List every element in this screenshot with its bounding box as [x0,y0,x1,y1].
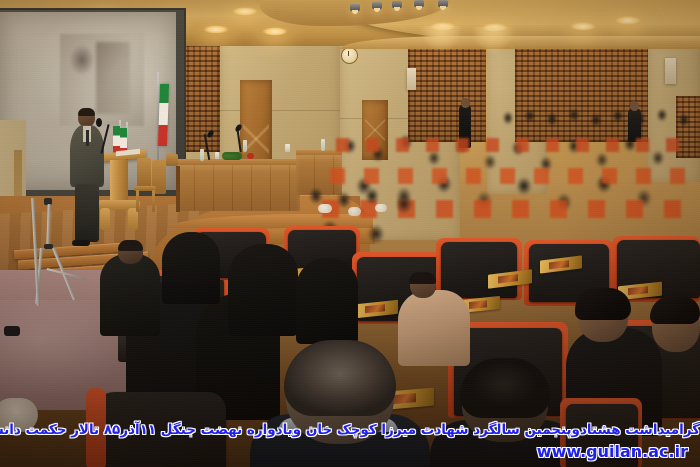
attendee-hair [409,272,436,284]
standing-attendee-right-head [630,101,639,111]
turban-white [318,204,332,213]
podium-mic-head [96,118,102,127]
track-spotlight [414,0,424,7]
water-bottle [321,139,325,151]
wall-seam [220,110,340,111]
attendee-hair [118,240,143,251]
attendee-chador [162,232,220,304]
photo-canvas: گرامیداشت هشتادوپنجمین سالگرد شهادت میرز… [0,0,700,467]
folder-artwork [628,286,648,295]
ceiling-soffit-edge [340,36,700,49]
turban-foreground [0,398,38,432]
wall-clock [341,47,358,64]
panel-chair-leg [136,190,139,212]
track-spotlight [372,2,382,9]
head-table-front [176,165,300,211]
track-spotlight [438,0,448,7]
turban-white [375,204,387,212]
water-bottle [243,140,247,152]
folder-artwork [498,274,518,284]
panel-chair [137,158,151,188]
ceiling-downlight [615,16,641,25]
attendee-suit-dark [100,254,160,336]
theater-seat-foreground-left [96,392,226,467]
panel-chair-leg [152,190,155,212]
flower-arrangement [222,152,242,160]
paper-cup [215,152,219,159]
attendee-hair-edge [650,296,700,324]
track-spotlight [392,1,402,8]
panel-chair-far [166,154,178,166]
projected-image-highlight [96,42,130,114]
speaker-hair [78,108,95,116]
speaker-tie [86,130,89,146]
speaker-legs [75,184,99,242]
podium-foot [100,208,110,230]
foreground-attendee-hair [284,340,396,416]
standing-attendee-head [461,98,470,108]
folder-artwork [549,260,568,269]
ceiling-downlight [203,25,229,34]
podium-column [110,160,128,204]
speaker-shoe [72,240,90,246]
head-table-side [176,166,180,212]
attendee-chador [228,244,298,336]
downlight-glow [472,27,514,53]
ceiling-downlight [262,27,288,36]
foreground-attendee-2-hair [460,358,550,418]
turban-white [348,207,361,216]
water-bottle [200,149,204,161]
attendee-tan-sweater [398,290,470,366]
track-spotlight [350,4,360,11]
folder-artwork [365,304,384,313]
seat-row-mid [336,138,696,152]
theater-seat-foreground [566,404,638,467]
wall-speaker-left [407,68,416,90]
paper-cup [285,144,290,152]
ceiling-downlight [570,22,596,31]
seat-red-foreground-left [86,388,106,467]
ceiling-downlight [232,7,258,16]
wall-speaker-right [665,58,676,84]
theater-seat [441,242,517,298]
equipment-bag [4,326,20,336]
attendee-hair-black [575,288,631,320]
attendee-chador [296,258,358,344]
folder-artwork [469,300,487,309]
downlight-glow [420,26,462,52]
flower-red [247,153,254,159]
